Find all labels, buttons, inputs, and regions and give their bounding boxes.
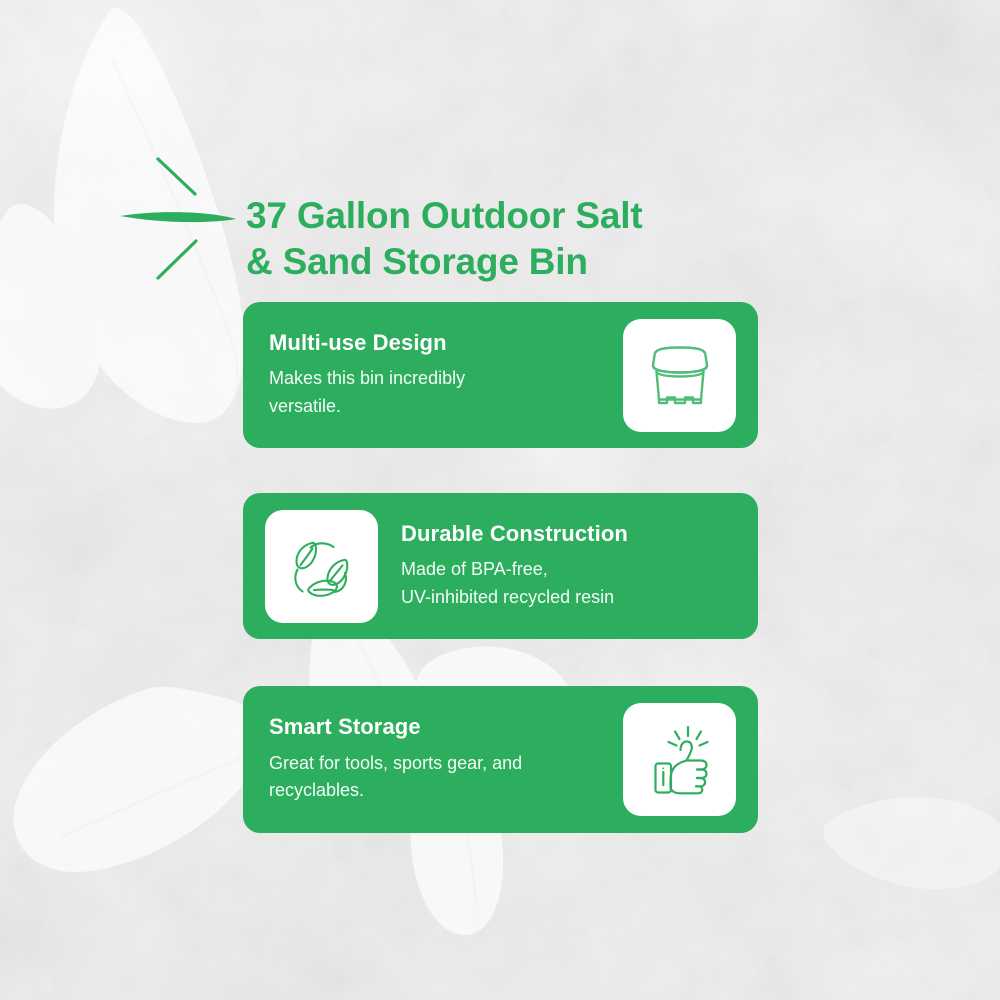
feature-body: Makes this bin incredibly versatile. (269, 365, 623, 420)
feature-text-block: Multi-use Design Makes this bin incredib… (269, 330, 623, 420)
feature-text-block: Smart Storage Great for tools, sports ge… (269, 714, 623, 804)
feature-body: Made of BPA-free, UV-inhibited recycled … (401, 556, 732, 611)
feature-text-block: Durable Construction Made of BPA-free, U… (378, 521, 732, 611)
infographic-canvas: 37 Gallon Outdoor Salt & Sand Storage Bi… (0, 0, 1000, 1000)
accent-stroke-bottom (158, 241, 196, 278)
feature-icon-tile (623, 319, 736, 432)
storage-bin-icon (641, 336, 719, 414)
page-title: 37 Gallon Outdoor Salt & Sand Storage Bi… (246, 193, 806, 286)
leaf-vein-accent (118, 140, 248, 290)
feature-icon-tile (623, 703, 736, 816)
feature-body: Great for tools, sports gear, and recycl… (269, 750, 623, 805)
thumbs-up-icon (640, 720, 720, 800)
feature-heading: Smart Storage (269, 714, 623, 740)
accent-stroke-top (158, 159, 195, 194)
recycle-leaves-icon (282, 526, 362, 606)
feature-card-multi-use-design: Multi-use Design Makes this bin incredib… (243, 302, 758, 448)
feature-card-smart-storage: Smart Storage Great for tools, sports ge… (243, 686, 758, 833)
feature-heading: Durable Construction (401, 521, 732, 547)
feature-heading: Multi-use Design (269, 330, 623, 356)
feature-card-durable-construction: Durable Construction Made of BPA-free, U… (243, 493, 758, 639)
accent-stroke-middle (120, 212, 236, 222)
feature-icon-tile (265, 510, 378, 623)
